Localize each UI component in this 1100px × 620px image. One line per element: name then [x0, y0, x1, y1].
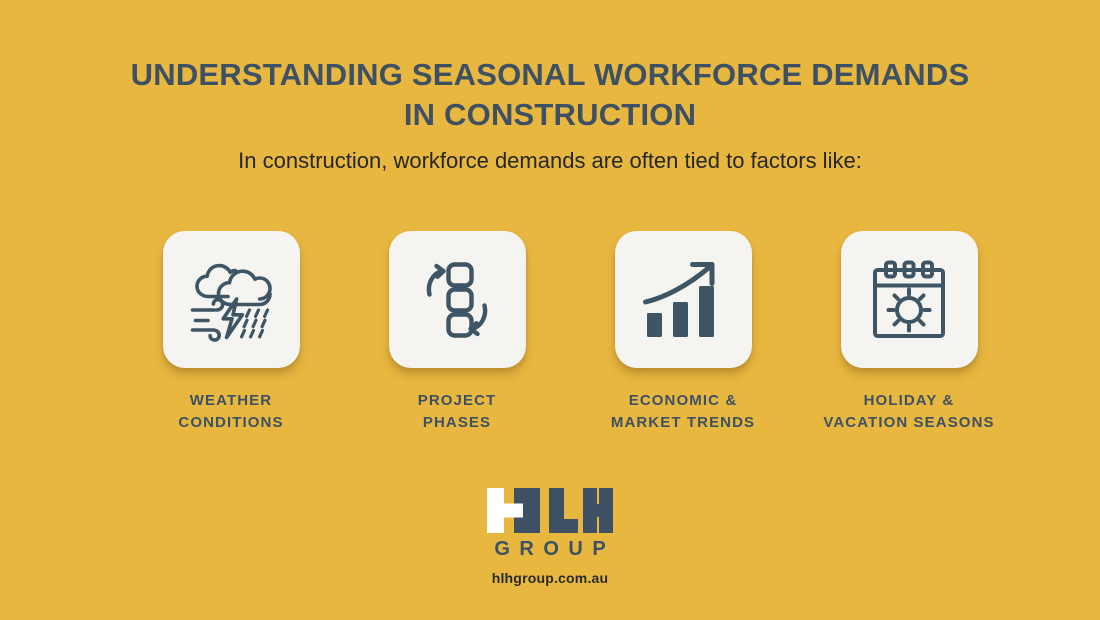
factor-card-project-phases: Project Phases	[342, 231, 572, 434]
page-subtitle: In construction, workforce demands are o…	[0, 146, 1100, 176]
logo-wordmark: GROUP	[0, 537, 1100, 561]
factor-card-label: Weather Conditions	[116, 390, 346, 434]
factor-card-holiday-vacation-seasons: Holiday & Vacation Seasons	[794, 231, 1024, 434]
factor-icon-tile	[389, 231, 526, 368]
factor-card-economic-market-trends: Economic & Market Trends	[568, 231, 798, 434]
brand-logo: GROUP hlhgroup.com.au	[0, 488, 1100, 587]
factor-icon-tile	[615, 231, 752, 368]
hlh-logo-mark	[487, 488, 613, 533]
factor-icon-tile	[841, 231, 978, 368]
project-phases-cycle-icon	[415, 258, 499, 342]
factor-card-label: Holiday & Vacation Seasons	[794, 390, 1024, 434]
factor-card-label: Project Phases	[342, 390, 572, 434]
page-title-line-2: in Construction	[0, 95, 1100, 135]
storm-weather-icon	[186, 258, 276, 342]
factor-card-weather-conditions: Weather Conditions	[116, 231, 346, 434]
growth-bar-chart-icon	[639, 258, 727, 342]
page-title-line-1: Understanding Seasonal Workforce Demands	[0, 55, 1100, 95]
factor-card-label: Economic & Market Trends	[568, 390, 798, 434]
page-title: Understanding Seasonal Workforce Demands…	[0, 55, 1100, 135]
infographic-canvas: Understanding Seasonal Workforce Demands…	[0, 0, 1100, 620]
calendar-sun-icon	[867, 258, 951, 342]
factor-icon-tile	[163, 231, 300, 368]
factor-card-row: Weather Conditions	[0, 231, 1100, 441]
logo-website-url: hlhgroup.com.au	[0, 569, 1100, 587]
